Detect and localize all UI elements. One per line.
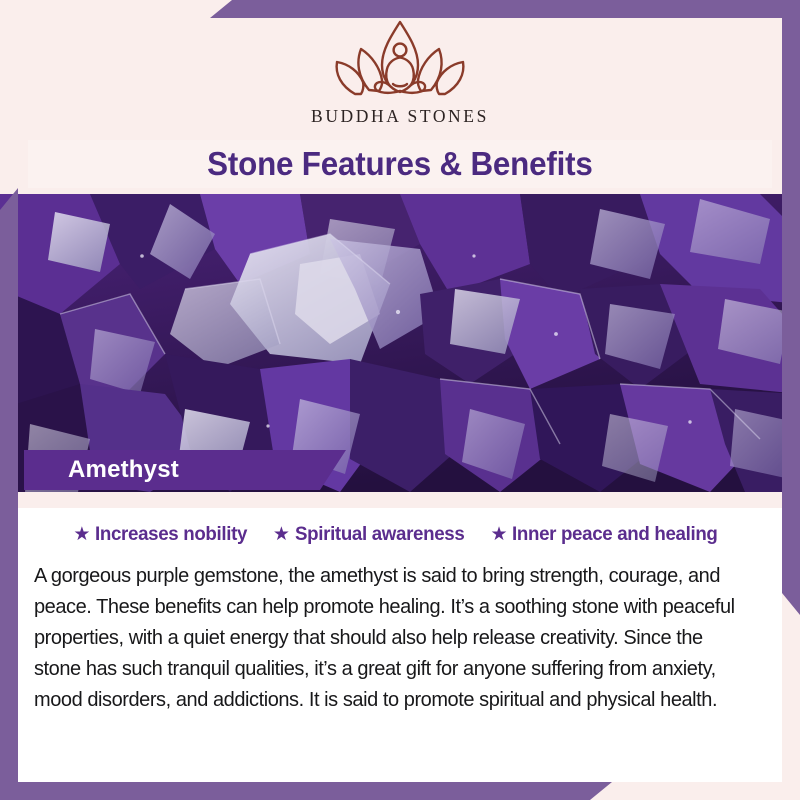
stone-features-infographic: BUDDHA STONES Stone Features & Benefits	[0, 0, 800, 800]
benefit-label-3: Inner peace and healing	[512, 523, 718, 546]
frame-band-left	[0, 188, 18, 800]
stone-name-label: Amethyst	[68, 456, 179, 484]
star-icon: ★	[73, 525, 90, 544]
star-icon: ★	[273, 525, 290, 544]
frame-band-top	[210, 0, 800, 18]
lotus-meditation-figure-icon	[325, 16, 475, 102]
page-title-bar: Stone Features & Benefits	[28, 140, 772, 188]
brand-wordmark: BUDDHA STONES	[311, 106, 489, 127]
benefit-item-3: ★ Inner peace and healing	[490, 523, 726, 546]
frame-band-bottom	[0, 782, 612, 800]
benefit-item-2: ★ Spiritual awareness	[273, 523, 472, 546]
section-separator	[0, 492, 800, 508]
benefits-list: ★ Increases nobility ★ Spiritual awarene…	[34, 517, 766, 551]
benefit-label-2: Spiritual awareness	[295, 523, 464, 546]
stone-name-banner: Amethyst	[24, 450, 346, 490]
benefit-item-1: ★ Increases nobility	[73, 523, 253, 546]
brand-logo: BUDDHA STONES	[0, 16, 800, 127]
amethyst-photo	[0, 194, 800, 492]
star-icon: ★	[490, 525, 507, 544]
amethyst-crystal-cluster-illustration	[0, 194, 800, 492]
page-title: Stone Features & Benefits	[207, 145, 592, 183]
frame-band-right	[782, 0, 800, 615]
content-panel: ★ Increases nobility ★ Spiritual awarene…	[18, 508, 782, 782]
stone-description: A gorgeous purple gemstone, the amethyst…	[34, 560, 748, 715]
benefit-label-1: Increases nobility	[95, 523, 247, 546]
